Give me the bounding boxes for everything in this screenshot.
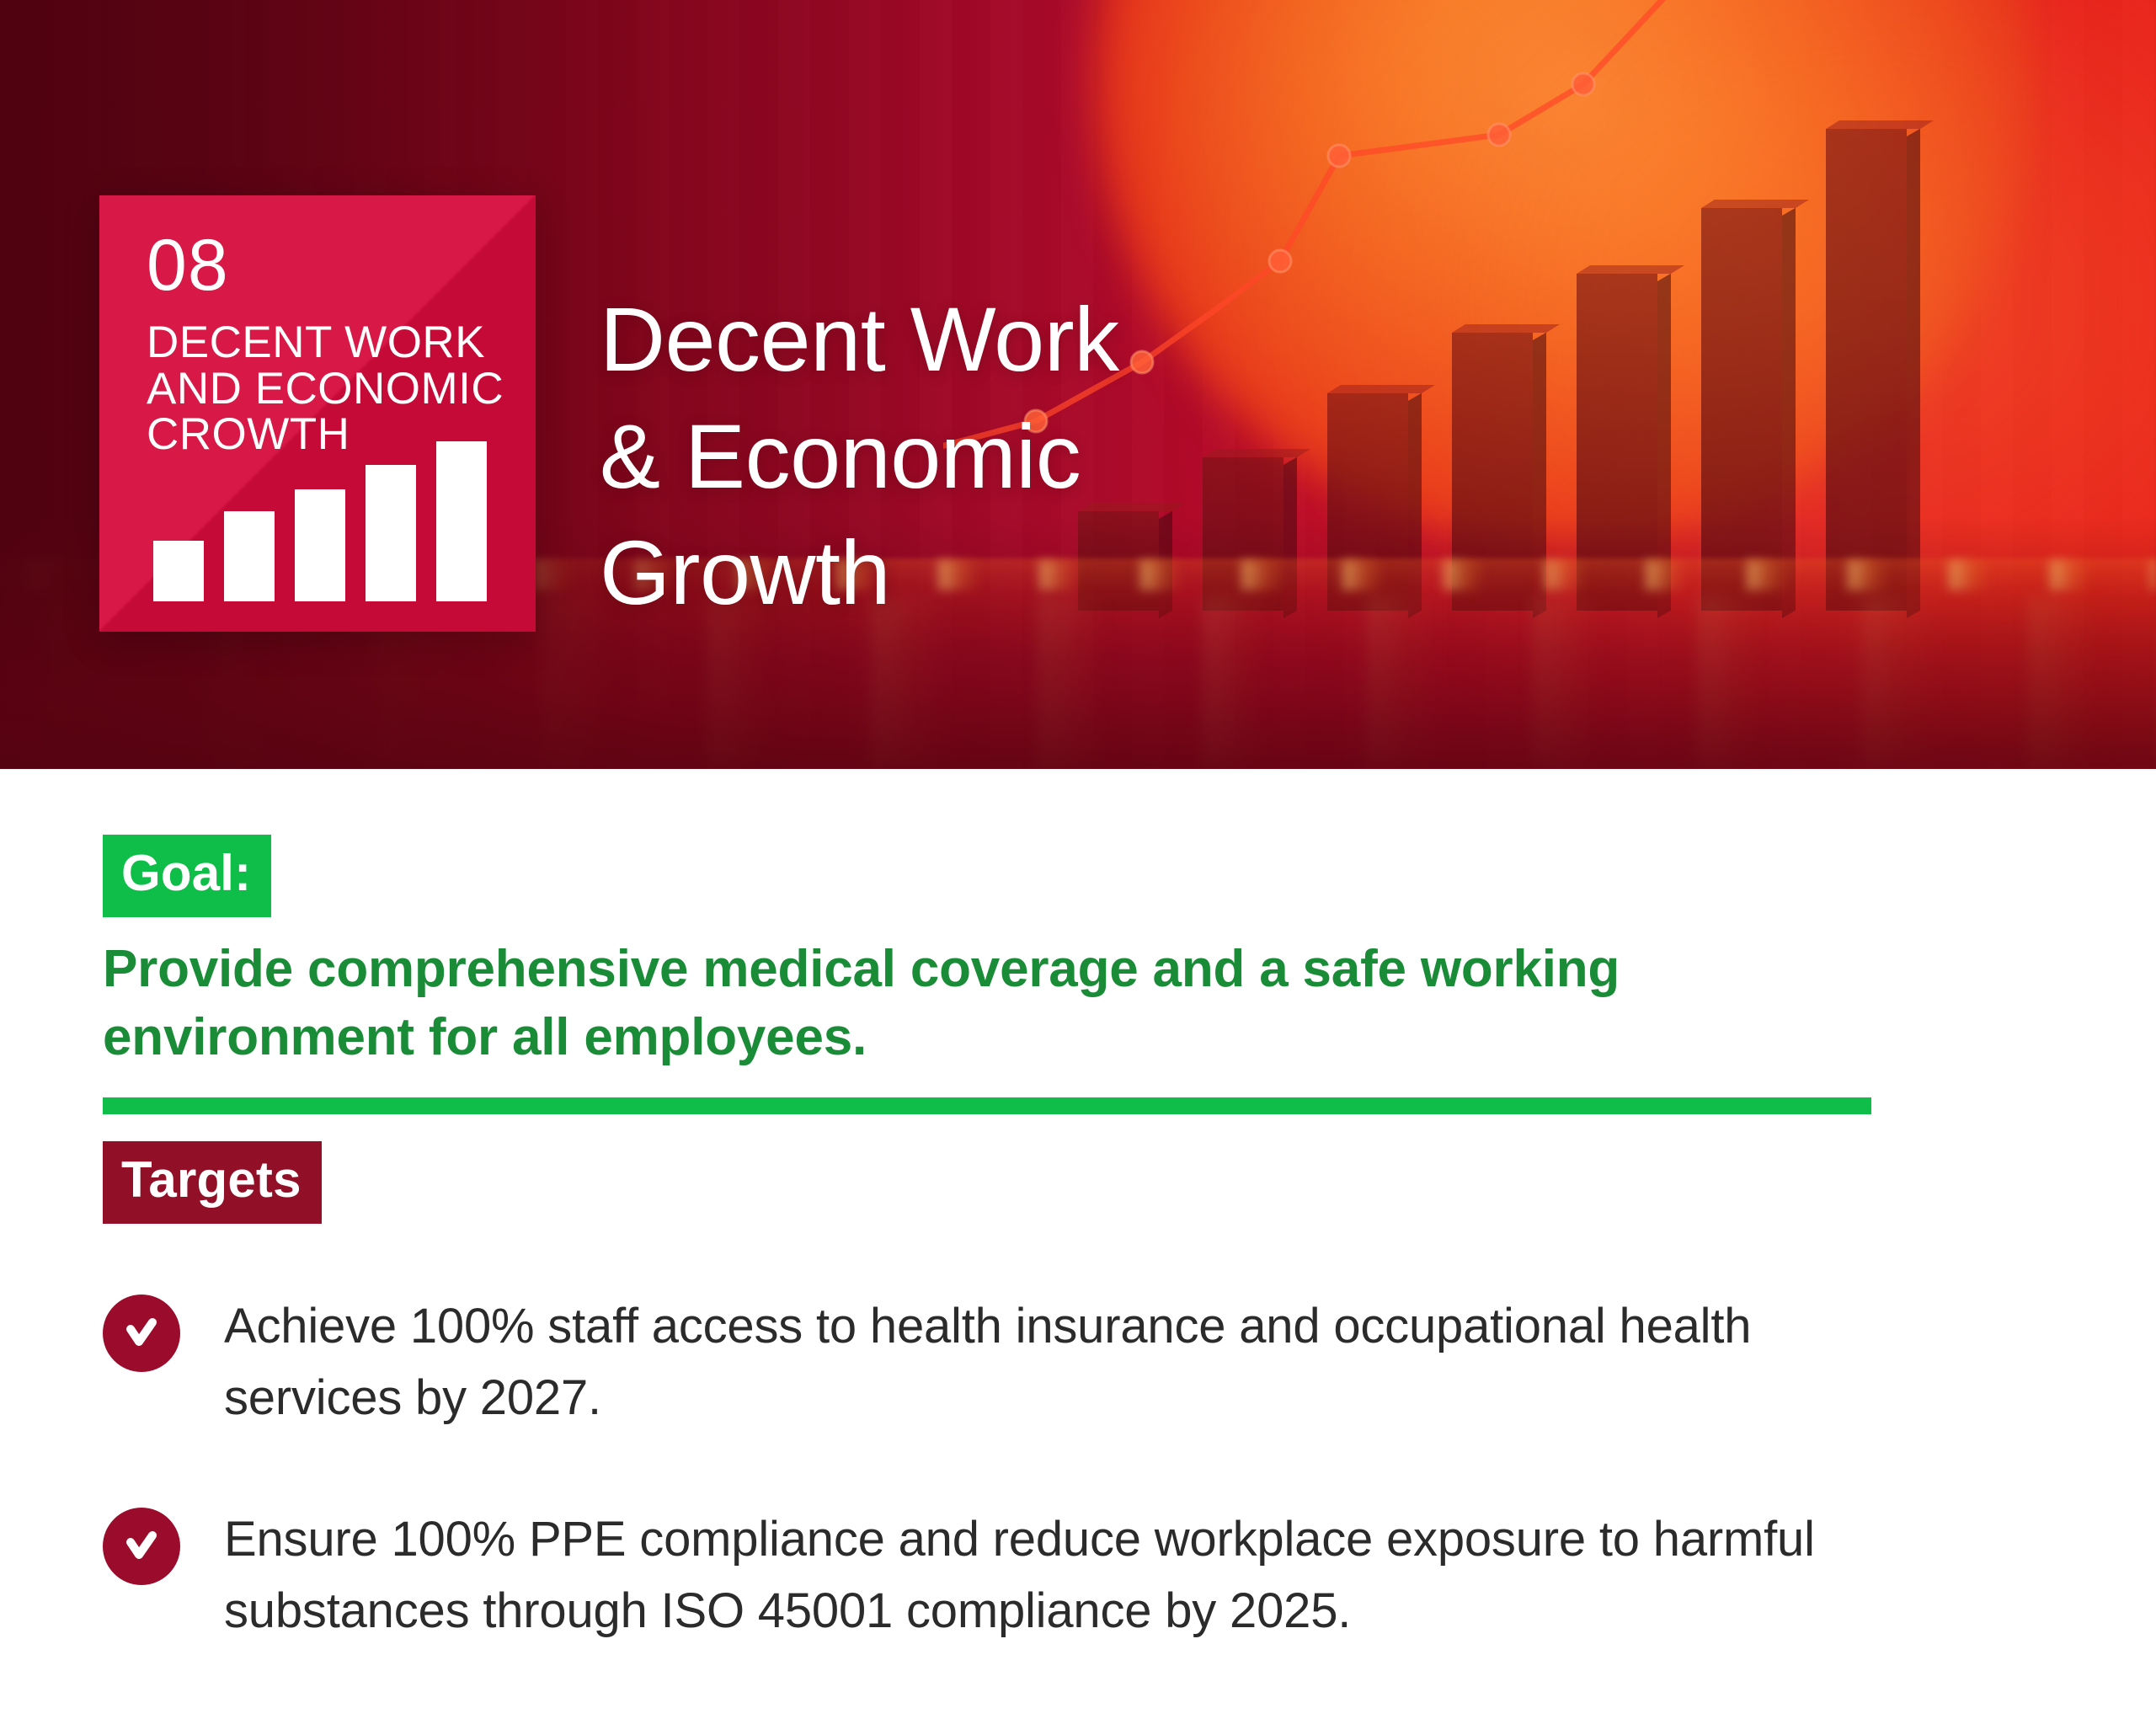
sdg-bar [295,489,345,601]
goal-badge: Goal: [103,835,271,917]
sdg-goal-name: DECENT WORK AND ECONOMIC CROWTH [147,320,504,458]
target-text: Achieve 100% staff access to health insu… [224,1291,1942,1433]
check-circle-icon [103,1508,180,1585]
targets-badge: Targets [103,1141,322,1224]
sdg-bar [436,441,487,601]
list-item: Ensure 100% PPE compliance and reduce wo… [103,1504,2006,1647]
check-circle-icon [103,1295,180,1372]
sdg-goal-8-logo: 08 DECENT WORK AND ECONOMIC CROWTH [99,195,536,632]
section-divider [103,1097,1871,1114]
hero-banner: 08 DECENT WORK AND ECONOMIC CROWTH Decen… [0,0,2156,769]
page-title: Decent Work & Economic Growth [600,281,1119,631]
targets-list: Achieve 100% staff access to health insu… [103,1291,2006,1718]
goal-statement: Provide comprehensive medical coverage a… [103,936,1905,1071]
target-text: Ensure 100% PPE compliance and reduce wo… [224,1504,1942,1647]
list-item: Achieve 100% staff access to health insu… [103,1291,2006,1433]
sdg-goal-number: 08 [147,229,229,302]
sdg-bar [224,511,275,601]
sdg-bar [153,541,204,601]
content-area: Goal: Provide comprehensive medical cove… [0,769,2156,1735]
sdg-bar-chart-icon [153,441,490,601]
sdg-bar [366,465,416,601]
